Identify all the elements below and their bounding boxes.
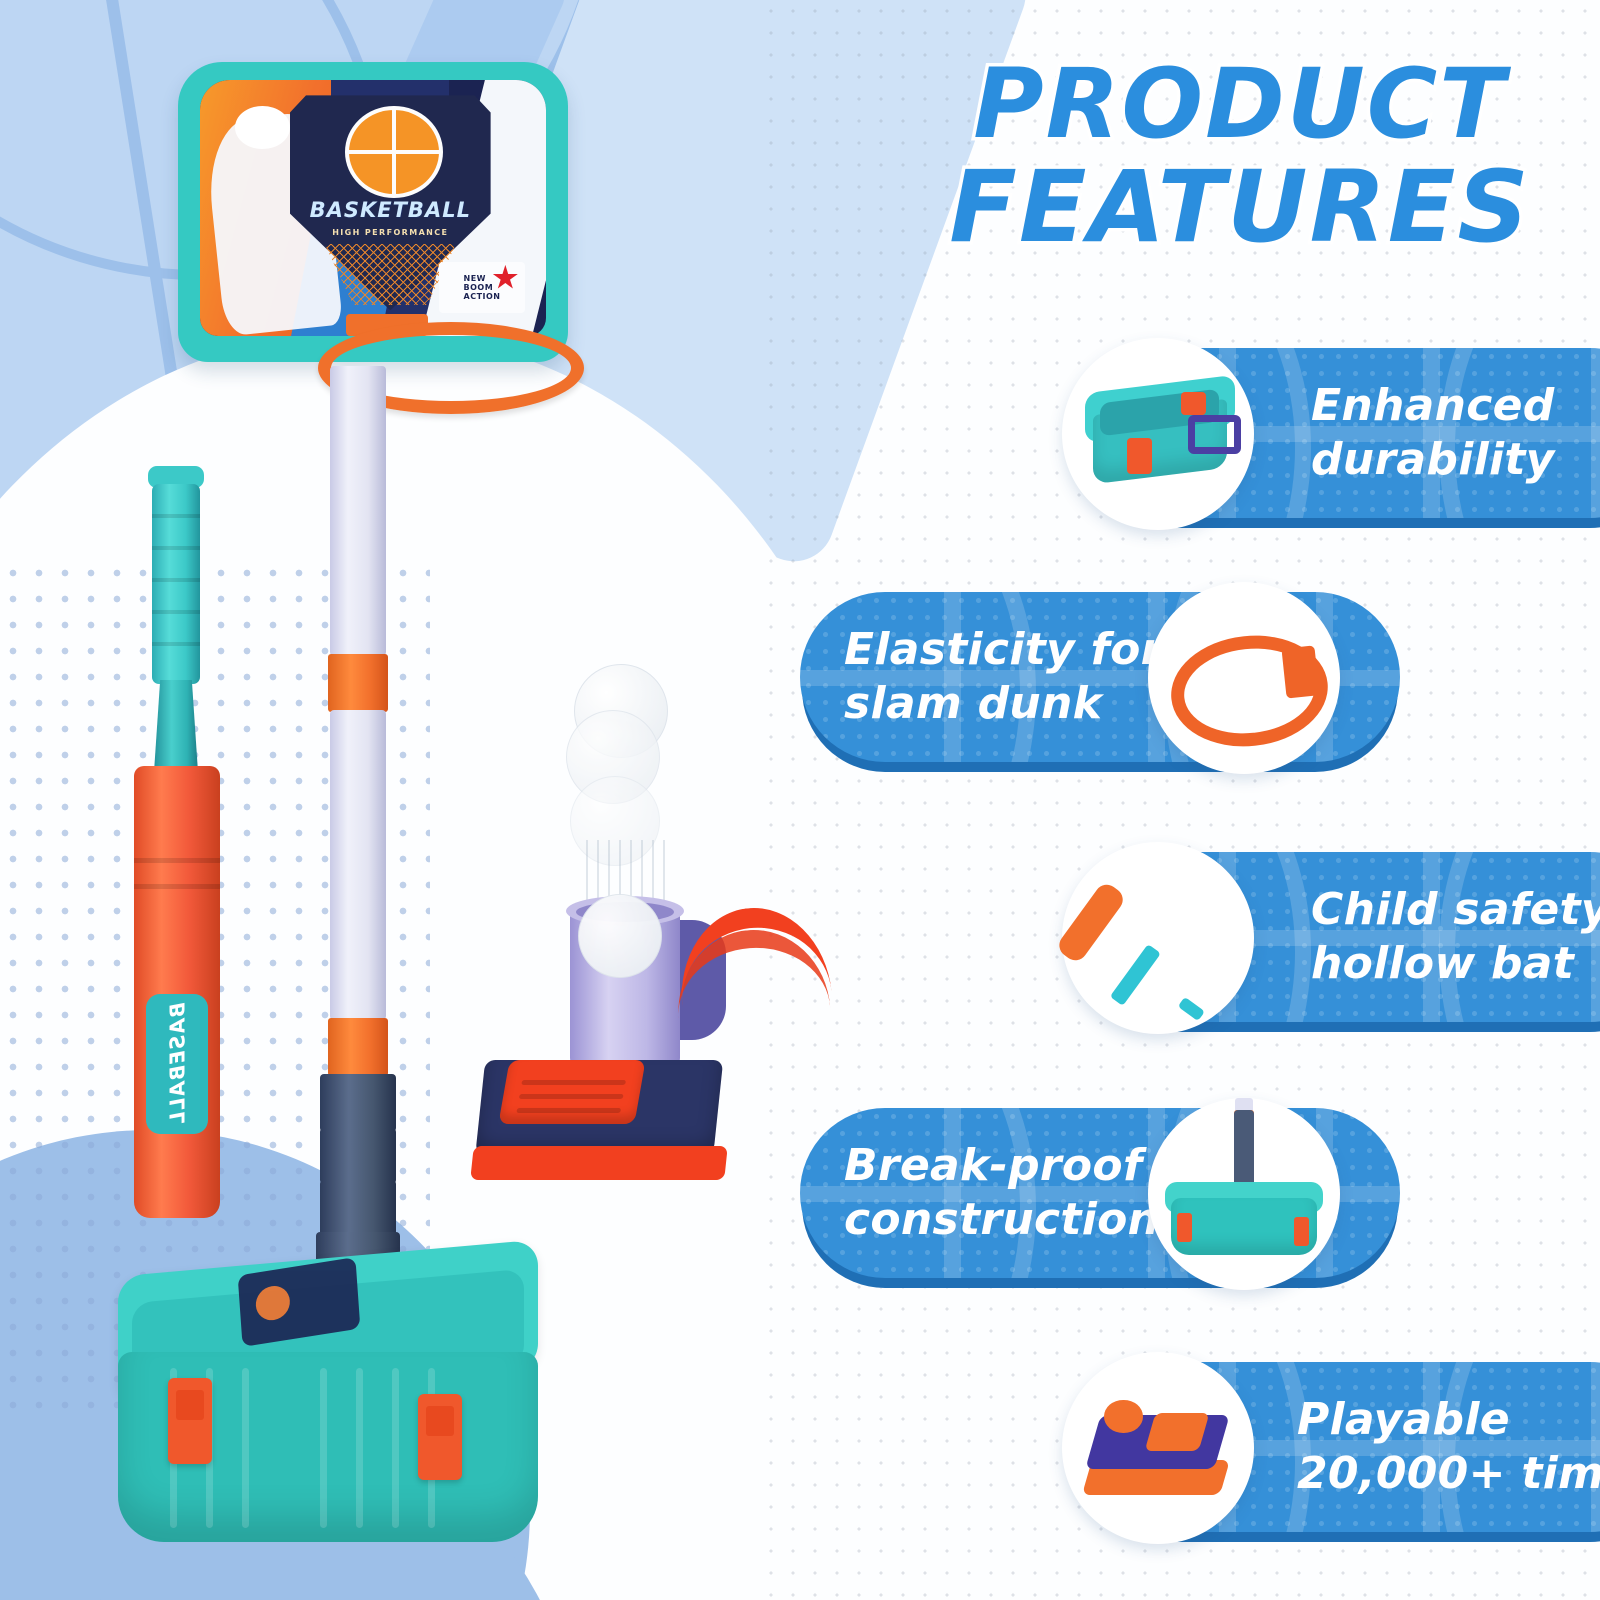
pole-base-segment <box>320 1180 396 1236</box>
toy-baseball-bat: BASEBALL <box>118 466 234 1226</box>
feature-line-1: Elasticity for <box>844 623 1163 677</box>
box-latch-clip <box>1181 392 1206 415</box>
feature-line-1: Break-proof <box>844 1139 1159 1193</box>
pole-connector-ring <box>328 1018 388 1076</box>
feature-image-storage-box-open <box>1062 338 1254 530</box>
pole-base-segment <box>320 1074 396 1132</box>
ball-ramp <box>673 900 833 1021</box>
backboard-title-text: BASKETBALL <box>297 198 484 222</box>
baseball-in-tube <box>578 894 662 978</box>
box-latch-clip <box>418 1394 462 1480</box>
pole-base-segment <box>320 1128 396 1184</box>
bat-taper <box>154 680 198 772</box>
pole-connector-ring <box>328 654 388 712</box>
feature-line-2: 20,000+ times <box>1297 1447 1600 1501</box>
bat-label-text: BASEBALL <box>165 1003 189 1126</box>
box-handle <box>1188 415 1240 454</box>
bat-cap-icon <box>1178 997 1205 1021</box>
feature-image-box-with-pole <box>1148 1098 1340 1290</box>
bat-barrel-icon <box>1055 880 1128 965</box>
feature-line-2: durability <box>1311 433 1555 487</box>
feature-line-2: slam dunk <box>844 677 1163 731</box>
feature-image-hoop-ring <box>1148 582 1340 774</box>
brand-badge-text: NEW BOOM ACTION <box>464 274 501 301</box>
feature-line-2: construction <box>844 1193 1159 1247</box>
infographic-canvas: PRODUCT FEATURES BASKETBALL HIGH PERFORM… <box>0 0 1600 1600</box>
brand-badge: NEW BOOM ACTION <box>439 262 526 313</box>
feature-label-child-safety-hollow-bat: Child safety hollow bat <box>1311 852 1600 1022</box>
box-latch-clip <box>1177 1213 1192 1242</box>
badge-line-action: ACTION <box>464 292 501 301</box>
box-latch-clip <box>1294 1217 1309 1246</box>
launcher-foot <box>470 1146 728 1180</box>
page-title: PRODUCT FEATURES <box>900 52 1580 282</box>
feature-line-2: hollow bat <box>1311 937 1600 991</box>
feature-label-elasticity-slam-dunk: Elasticity for slam dunk <box>844 592 1163 762</box>
ball-launcher <box>470 640 790 1220</box>
feature-image-launcher-base <box>1062 1352 1254 1544</box>
feature-label-playable-20000-times: Playable 20,000+ times <box>1297 1362 1600 1532</box>
bat-label: BASEBALL <box>146 994 208 1134</box>
bat-barrel <box>134 766 220 1218</box>
bat-handle-icon <box>1110 944 1162 1006</box>
title-line-features: FEATURES <box>900 156 1580 260</box>
feature-image-hollow-bat <box>1062 842 1254 1034</box>
telescoping-pole <box>330 366 386 1266</box>
box-latch-clip <box>168 1378 212 1464</box>
feature-label-enhanced-durability: Enhanced durability <box>1311 348 1555 518</box>
held-basketball-icon <box>235 106 290 150</box>
feature-line-1: Enhanced <box>1311 379 1555 433</box>
title-line-product: PRODUCT <box>900 52 1580 156</box>
launcher-knob-icon <box>1104 1400 1142 1433</box>
bat-grip <box>152 484 200 684</box>
feature-label-break-proof-construction: Break-proof construction <box>844 1108 1159 1278</box>
feature-line-1: Playable <box>1297 1393 1600 1447</box>
badge-line-boom: BOOM <box>464 283 501 292</box>
hoop-bracket-icon <box>1282 646 1320 699</box>
backboard-graphic: BASKETBALL HIGH PERFORMANCE NEW BOOM ACT… <box>200 80 546 336</box>
box-latch-clip <box>1127 438 1152 474</box>
pole-segment-middle <box>330 710 386 1020</box>
backboard-subtitle-text: HIGH PERFORMANCE <box>304 228 477 237</box>
main-product-illustration: BASKETBALL HIGH PERFORMANCE NEW BOOM ACT… <box>0 0 820 1600</box>
feature-line-1: Child safety <box>1311 883 1600 937</box>
pole-segment-upper <box>330 366 386 656</box>
launcher-pedal[interactable] <box>498 1060 645 1124</box>
basketball-icon <box>345 106 443 198</box>
